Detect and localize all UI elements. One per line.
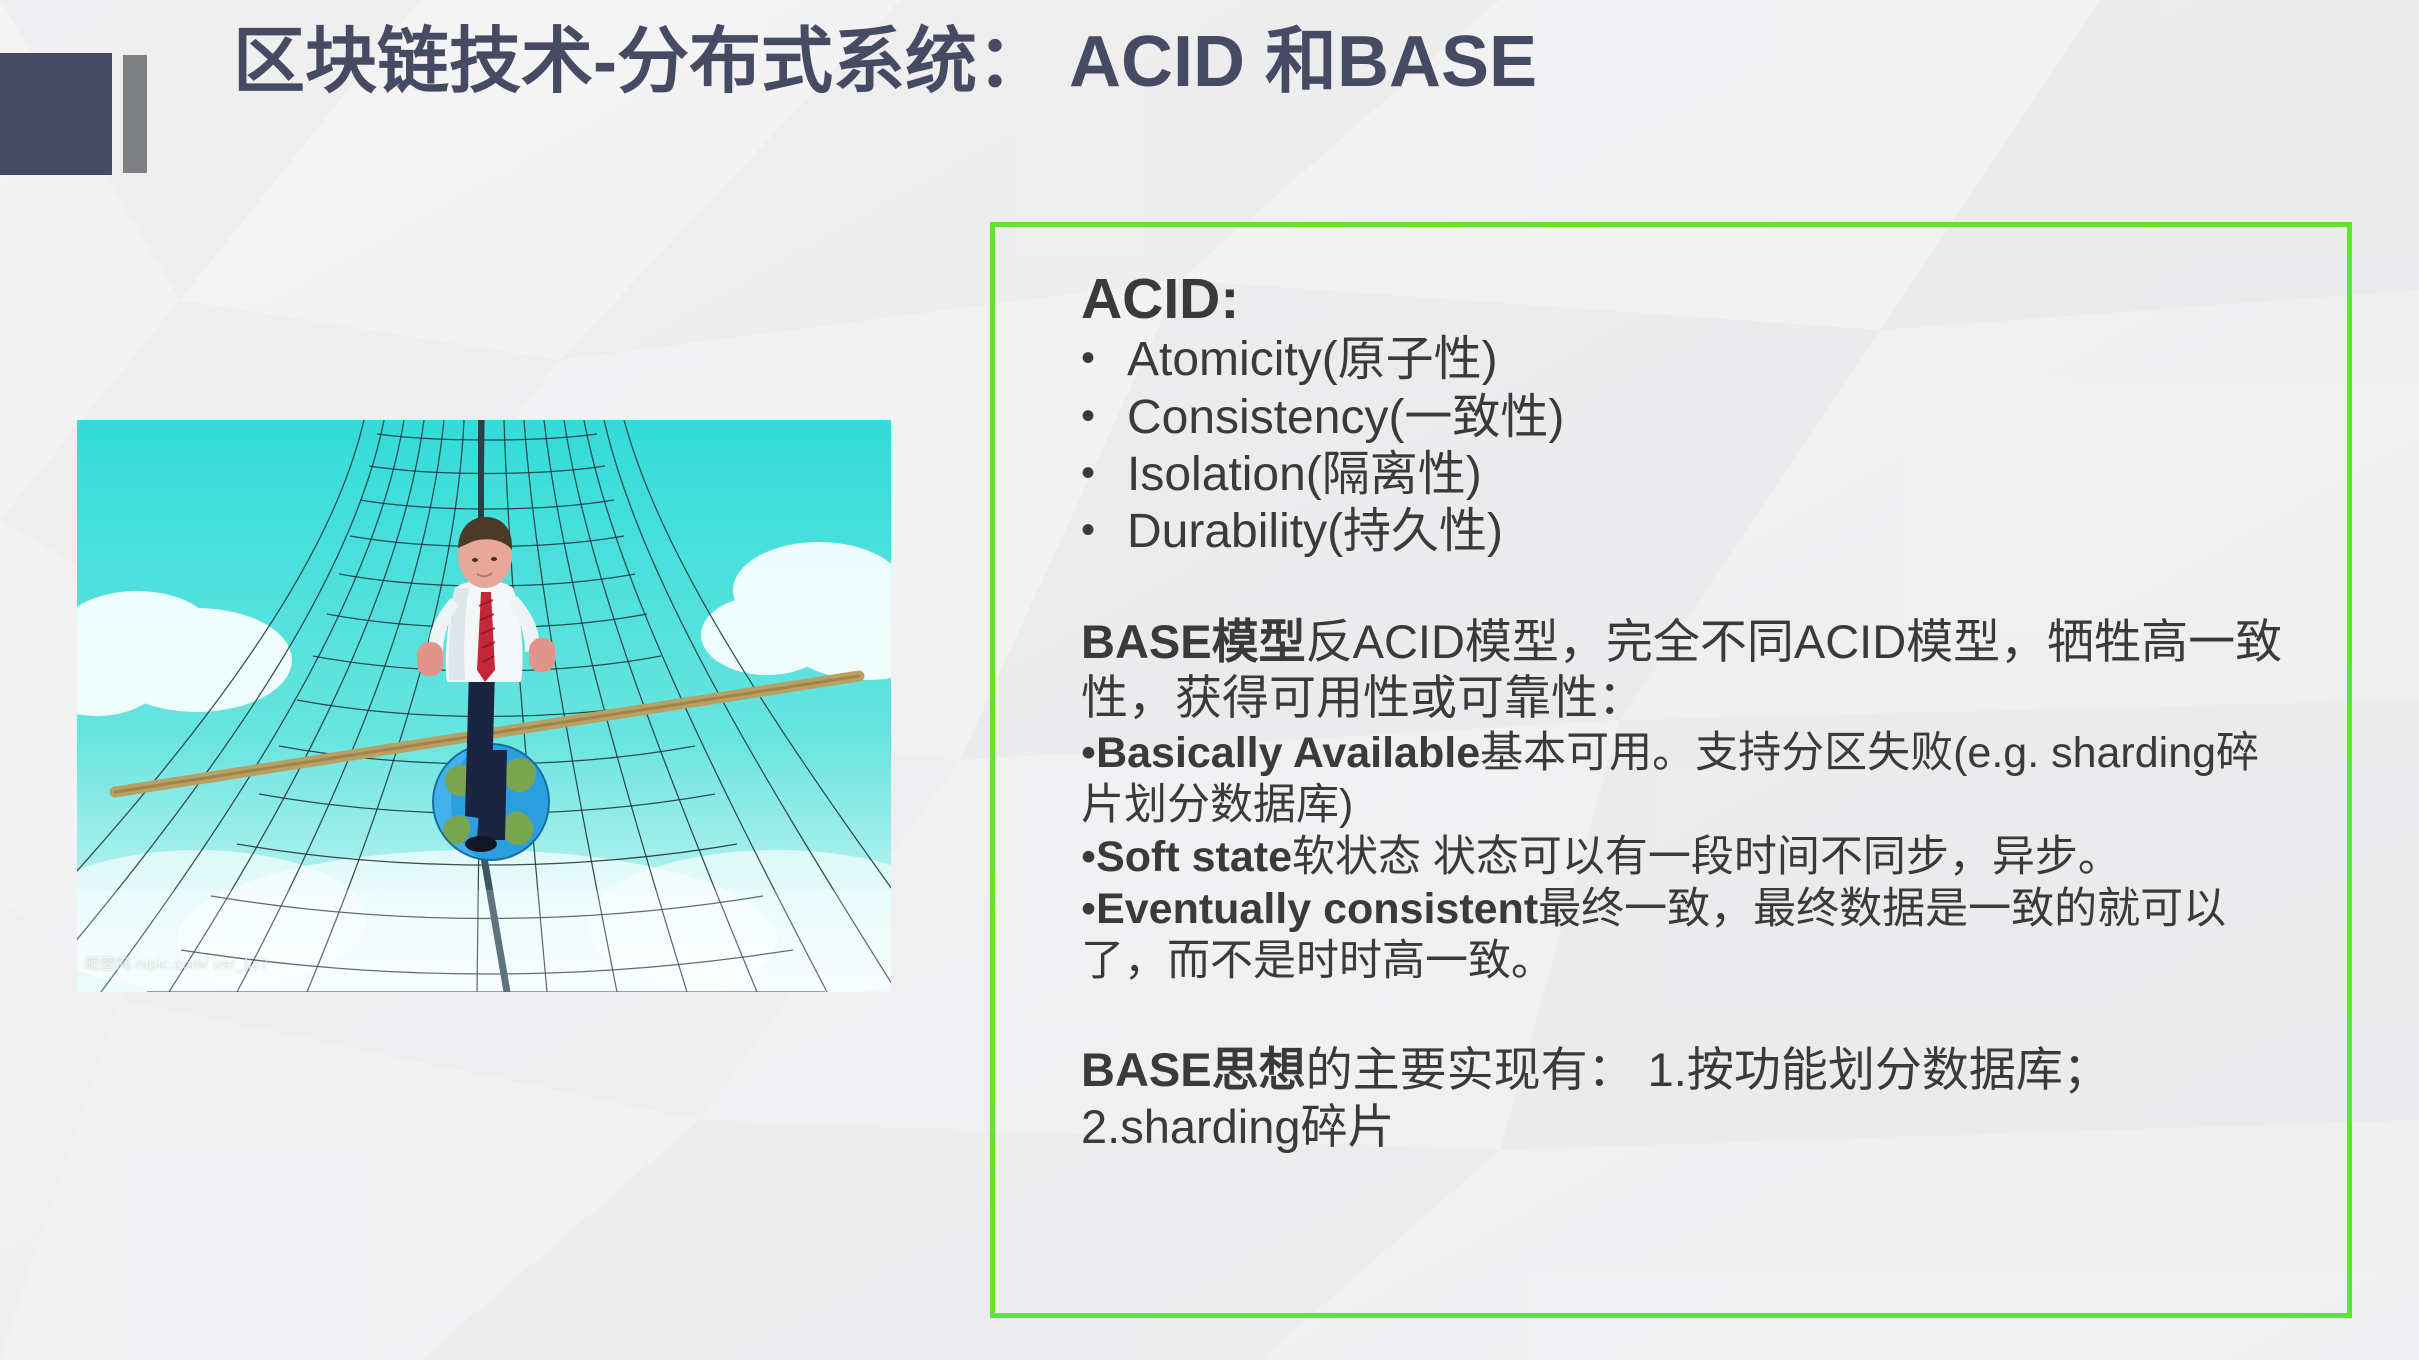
title-accent-block-dark [0, 53, 112, 175]
base-intro-bold: BASE模型 [1081, 615, 1306, 668]
bullet-icon: • [1081, 389, 1127, 444]
bullet-icon: • [1081, 503, 1127, 558]
base-point-term: Soft state [1096, 833, 1292, 881]
bullet-icon: • [1081, 833, 1096, 881]
base-point-desc: 软状态 状态可以有一段时间不同步，异步。 [1292, 833, 2121, 881]
acid-heading: ACID: [1081, 269, 2286, 329]
base-point-basically-available: •Basically Available基本可用。支持分区失败(e.g. sha… [1081, 727, 2286, 831]
tightrope-walker-image: 昵图网.nipic.com/ usr_lic7 [77, 420, 891, 992]
list-item: • Atomicity(原子性) [1081, 331, 2286, 388]
acid-item-label: Durability(持久性) [1127, 503, 1503, 560]
base-point-term: Eventually consistent [1096, 885, 1538, 933]
acid-item-label: Atomicity(原子性) [1127, 331, 1498, 388]
base-point-soft-state: •Soft state软状态 状态可以有一段时间不同步，异步。 [1081, 831, 2286, 883]
base-implementation-paragraph: BASE思想的主要实现有： 1.按功能划分数据库；2.sharding碎片 [1081, 1041, 2286, 1156]
image-watermark: 昵图网.nipic.com/ usr_lic7 [85, 953, 269, 974]
list-item: • Isolation(隔离性) [1081, 446, 2286, 503]
content-box: ACID: • Atomicity(原子性) • Consistency(一致性… [990, 222, 2352, 1318]
acid-list: • Atomicity(原子性) • Consistency(一致性) • Is… [1081, 331, 2286, 559]
bullet-icon: • [1081, 331, 1127, 386]
base-point-term: Basically Available [1096, 729, 1480, 777]
bullet-icon: • [1081, 446, 1127, 501]
base-intro-paragraph: BASE模型反ACID模型，完全不同ACID模型，牺牲高一致性，获得可用性或可靠… [1081, 614, 2286, 727]
base-final-bold: BASE思想 [1081, 1043, 1306, 1096]
spacer [1081, 560, 2286, 614]
acid-item-label: Consistency(一致性) [1127, 389, 1564, 446]
base-point-eventually-consistent: •Eventually consistent最终一致，最终数据是一致的就可以了，… [1081, 883, 2286, 987]
acid-item-label: Isolation(隔离性) [1127, 446, 1482, 503]
list-item: • Consistency(一致性) [1081, 389, 2286, 446]
bullet-icon: • [1081, 885, 1096, 933]
spacer [1081, 987, 2286, 1041]
page-title: 区块链技术-分布式系统： ACID 和BASE [233, 26, 1537, 98]
content-inner: ACID: • Atomicity(原子性) • Consistency(一致性… [1081, 269, 2286, 1155]
title-accent-bar-gray [123, 55, 147, 173]
tightrope-illustration [77, 420, 891, 992]
bullet-icon: • [1081, 729, 1096, 777]
list-item: • Durability(持久性) [1081, 503, 2286, 560]
